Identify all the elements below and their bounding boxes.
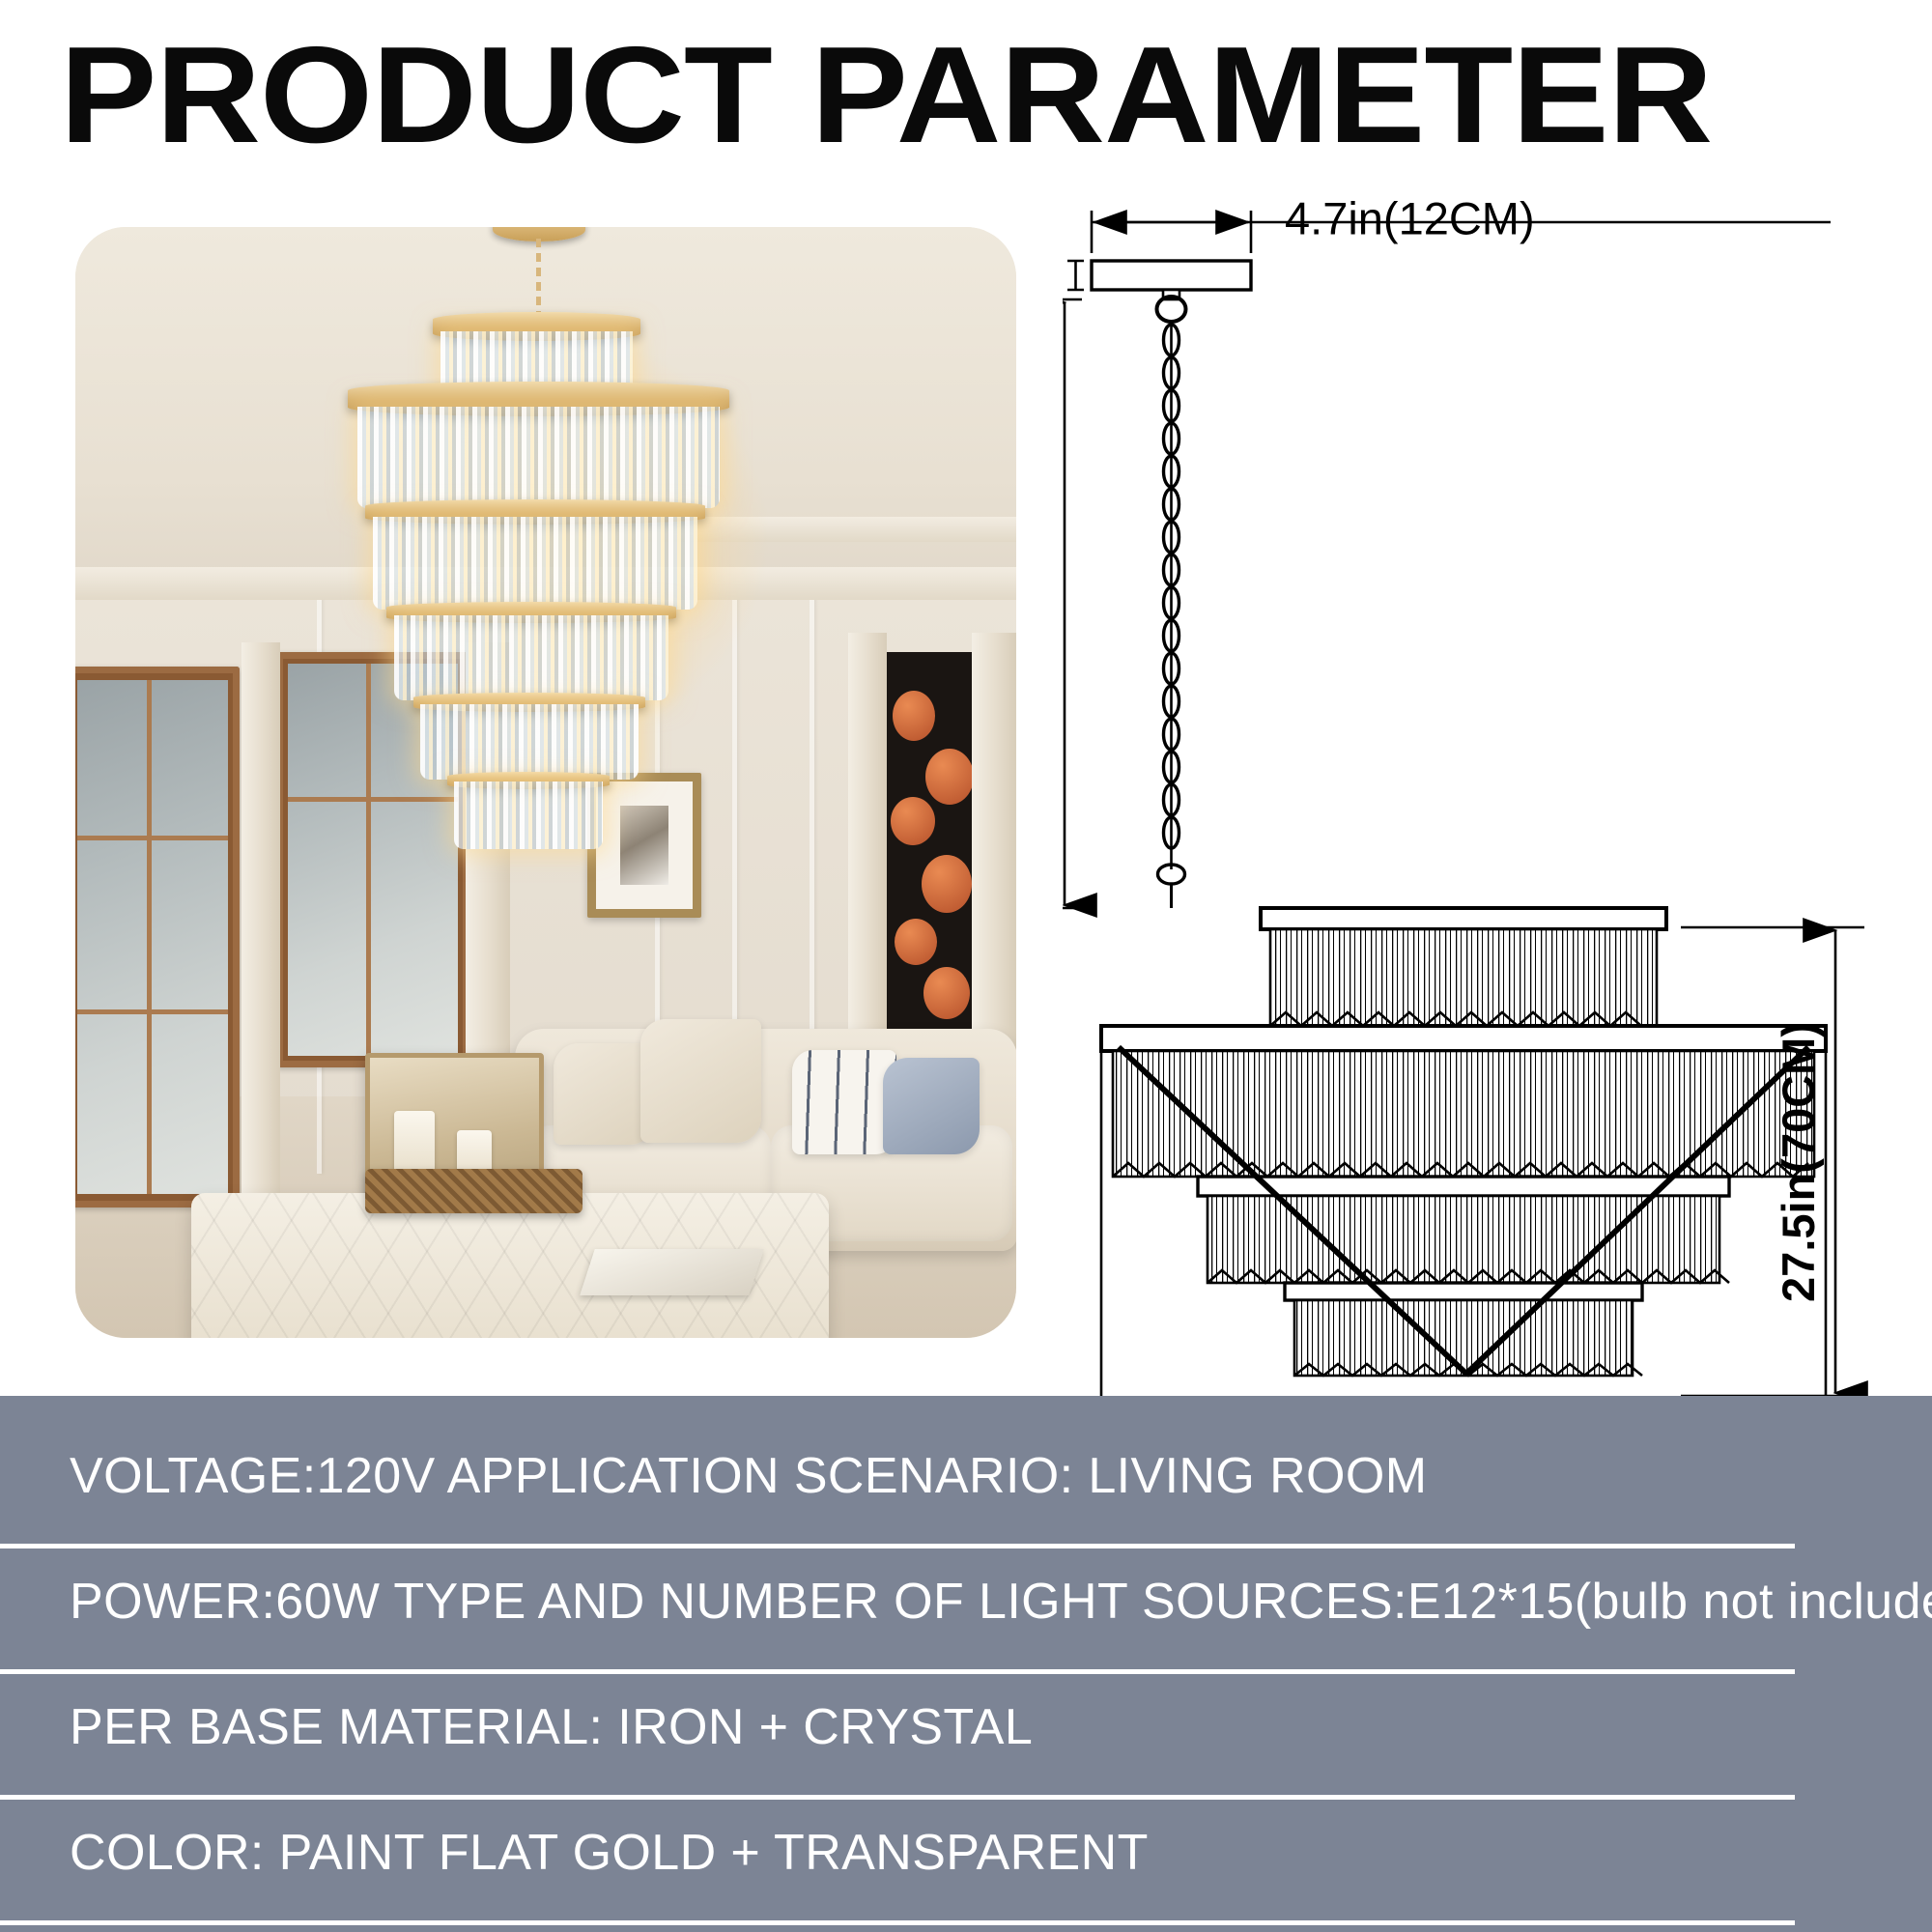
spec-divider [0,1669,1795,1674]
specification-panel: VOLTAGE:120V APPLICATION SCENARIO: LIVIN… [0,1396,1932,1932]
book [580,1249,764,1295]
canopy-width-label: 4.7in(12CM) [1285,193,1535,243]
dark-niche [883,652,976,1077]
spec-row: VOLTAGE:120V APPLICATION SCENARIO: LIVIN… [70,1449,1864,1503]
wall-column [241,642,280,1222]
spec-divider [0,1795,1795,1800]
striped-pillow [792,1050,896,1154]
photo-crystal-tier-3 [373,517,697,610]
photo-crystal-tier-4 [394,615,668,700]
photo-crystal-tier-5 [420,704,639,780]
product-room-photo [75,227,1016,1338]
page-title: PRODUCT PARAMETER [60,23,1932,168]
dimension-diagram: 4.7in(12CM) 1in(2.5CM) CHAIN + ADJUSTABL… [1063,193,1874,1401]
spec-divider [0,1544,1795,1548]
candle [394,1111,435,1171]
photo-crystal-tier-6 [454,781,603,849]
wicker-tray [365,1169,582,1213]
spec-voltage-application: VOLTAGE:120V APPLICATION SCENARIO: LIVIN… [70,1449,1864,1503]
spec-divider [0,1920,1795,1925]
fixture-height-label: 27.5in(70CM) [1773,1022,1824,1302]
spec-power-light-source: POWER:60W TYPE AND NUMBER OF LIGHT SOURC… [70,1575,1864,1629]
spec-base-material: PER BASE MATERIAL: IRON + CRYSTAL [70,1700,1864,1754]
blue-pillow [883,1058,980,1154]
sofa-pillow [640,1019,761,1143]
spec-color: COLOR: PAINT FLAT GOLD + TRANSPARENT [70,1826,1864,1880]
photo-chain [536,239,541,322]
spec-row: POWER:60W TYPE AND NUMBER OF LIGHT SOURC… [70,1575,1864,1629]
spec-row: COLOR: PAINT FLAT GOLD + TRANSPARENT [70,1826,1864,1880]
framed-artwork [587,773,701,918]
spec-row: PER BASE MATERIAL: IRON + CRYSTAL [70,1700,1864,1754]
photo-crystal-tier-2 [357,407,720,508]
patio-door-frame [75,667,240,1207]
